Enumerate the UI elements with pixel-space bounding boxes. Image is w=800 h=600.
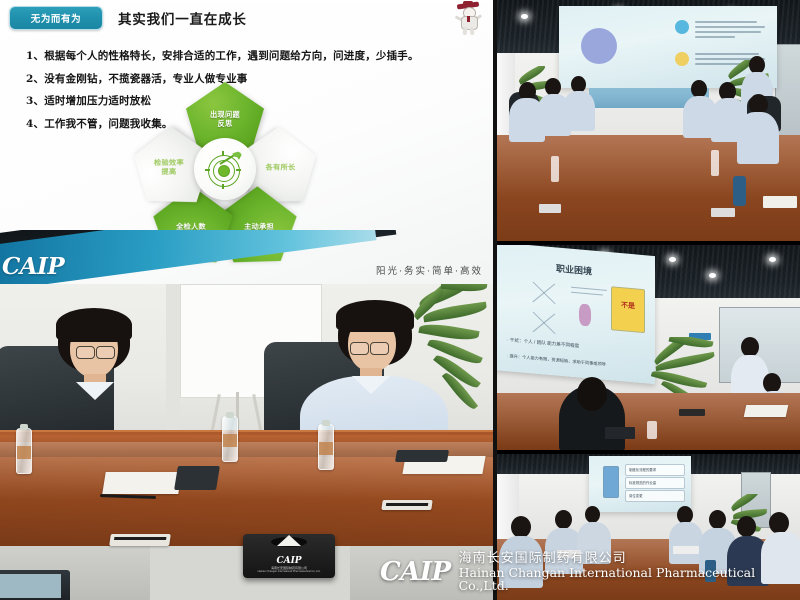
photo-right-top bbox=[497, 0, 800, 241]
tissue-brand: CAIP bbox=[243, 556, 335, 566]
left-column: 无为而有为 其实我们一直在成长 1、根据每个人的性格特长，安排合适的工作，遇到问… bbox=[0, 0, 493, 600]
bullet-item: 1、根据每个人的性格特长，安排合适的工作，遇到问题给方向，问进度，少插手。 bbox=[26, 48, 456, 63]
petal-label-line2: 反思 bbox=[210, 119, 240, 128]
slide-tagline: 阳光·务实·简单·高效 bbox=[376, 263, 483, 277]
photo-wall-seam bbox=[166, 284, 180, 444]
photo-notebook bbox=[102, 472, 181, 494]
slide-badge: 无为而有为 bbox=[9, 6, 103, 30]
company-overlay: CAIP 海南长安国际制药有限公司 Hainan Changan Interna… bbox=[380, 552, 800, 592]
petal-label-line1: 检验效率 bbox=[154, 158, 184, 167]
tissue-company-en: Hainan Changan International Pharmaceuti… bbox=[243, 570, 335, 573]
screen-item: 制度化流程的要求 bbox=[625, 464, 685, 476]
slide-caip-logo: CAIP bbox=[2, 253, 64, 280]
photo-tissue-box: CAIP 海南长安国际制药有限公司 Hainan Changan Interna… bbox=[243, 534, 335, 578]
right-column: 职业困境 不是 · 干扰：个人 / 团队 能力差不同程度 · 提升：个人能力有限… bbox=[497, 0, 800, 600]
photo-water-bottle-2 bbox=[222, 416, 238, 462]
screen-item: 岗位变更 bbox=[625, 490, 685, 502]
screenshot-root: 无为而有为 其实我们一直在成长 1、根据每个人的性格特长，安排合适的工作，遇到问… bbox=[0, 0, 800, 600]
photo-right-middle: 职业困境 不是 · 干扰：个人 / 团队 能力差不同程度 · 提升：个人能力有限… bbox=[497, 245, 800, 450]
screen-bullet-1: · 干扰：个人 / 团队 能力差不同程度 bbox=[507, 337, 579, 349]
screen-bullet-2: · 提升：个人能力有限，资源短缺，求助于同事或领导 bbox=[507, 353, 606, 368]
photo-mic-panel-2 bbox=[381, 500, 432, 510]
graduate-mascot-icon bbox=[451, 0, 485, 36]
photo-water-bottle-1 bbox=[16, 428, 32, 474]
overlay-caip-logo: CAIP bbox=[380, 557, 451, 587]
photo-tablet bbox=[395, 450, 449, 462]
photo-glasses-left bbox=[76, 346, 95, 359]
overlay-company-en: Hainan Changan International Pharmaceuti… bbox=[459, 566, 800, 592]
photo-mic-panel-1 bbox=[109, 534, 171, 546]
photo-glasses-right bbox=[350, 342, 369, 355]
screen-badge-text: 不是 bbox=[612, 299, 644, 312]
slide-title: 其实我们一直在成长 bbox=[118, 8, 247, 28]
overlay-company-cn: 海南长安国际制药有限公司 bbox=[459, 552, 800, 566]
screen-badge: 不是 bbox=[611, 286, 645, 333]
photo-glasses-left-2 bbox=[96, 346, 115, 359]
screen-item: 标准规范的作业量 bbox=[625, 477, 685, 489]
slide-footer-banner: CAIP 阳光·务实·简单·高效 bbox=[0, 230, 493, 284]
screen-item-text: 岗位变更 bbox=[629, 493, 643, 498]
photo-projector-screen: 职业困境 不是 · 干扰：个人 / 团队 能力差不同程度 · 提升：个人能力有限… bbox=[497, 245, 655, 384]
pentagon-flower-diagram: 出现问题 反思 各有所长 主动承担 项目 bbox=[120, 82, 330, 247]
petal-label-line1: 各有所长 bbox=[266, 162, 296, 171]
petal-label-line1: 出现问题 bbox=[210, 110, 240, 119]
presentation-slide: 无为而有为 其实我们一直在成长 1、根据每个人的性格特长，安排合适的工作，遇到问… bbox=[0, 0, 493, 284]
slide-badge-label: 无为而有为 bbox=[31, 11, 82, 25]
slide-top-edge bbox=[0, 0, 493, 2]
diagram-center-hub bbox=[194, 138, 256, 200]
screen-item-text: 标准规范的作业量 bbox=[629, 480, 656, 485]
photo-water-bottle-3 bbox=[318, 424, 334, 470]
photo-laptop bbox=[0, 570, 70, 600]
petal-label-line2: 提高 bbox=[154, 167, 184, 176]
photo-notebook-cover bbox=[174, 466, 220, 490]
photo-projector-screen: 制度化流程的要求 标准规范的作业量 岗位变更 bbox=[589, 456, 691, 512]
screen-item-text: 制度化流程的要求 bbox=[629, 467, 656, 472]
photo-glasses-right-2 bbox=[370, 342, 389, 355]
target-arrow-icon bbox=[205, 149, 245, 189]
screen-title: 职业困境 bbox=[497, 256, 655, 283]
